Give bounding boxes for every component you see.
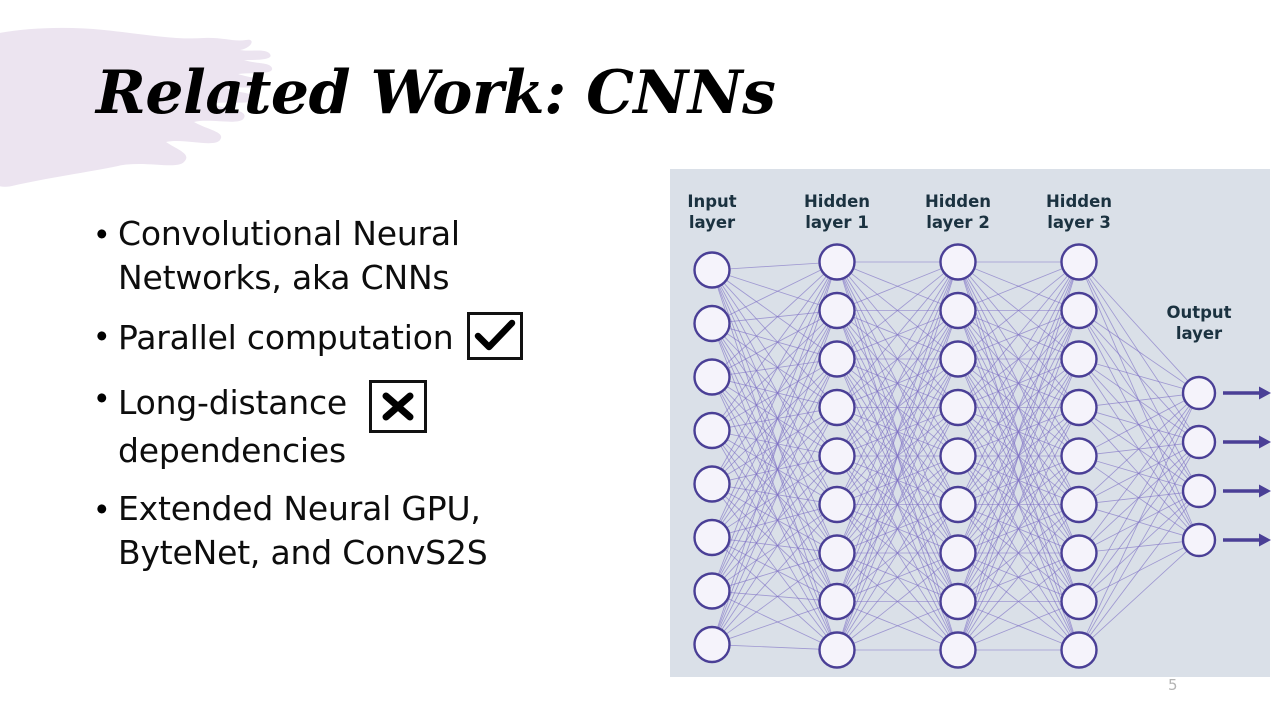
network-node <box>820 245 855 280</box>
network-node <box>941 293 976 328</box>
network-node <box>695 306 730 341</box>
network-node <box>820 293 855 328</box>
network-node <box>941 439 976 474</box>
network-node <box>695 467 730 502</box>
bullet-text-line-two: dependencies <box>118 429 427 473</box>
network-node <box>820 342 855 377</box>
network-node <box>941 487 976 522</box>
bullet-marker-icon: • <box>96 487 118 531</box>
bullet-text-extended-models: Extended Neural GPU, ByteNet, and ConvS2… <box>118 487 538 575</box>
network-node <box>695 627 730 662</box>
bullet-marker-icon: • <box>96 376 118 420</box>
bullet-line-one: Long-distance <box>118 376 427 429</box>
network-node <box>820 633 855 668</box>
network-node <box>695 413 730 448</box>
network-node <box>820 390 855 425</box>
layer-label-hidden-layer-1: Hidden layer 1 <box>777 191 897 233</box>
check-mark-wrapper <box>467 312 523 360</box>
layer-label-hidden-layer-3: Hidden layer 3 <box>1019 191 1139 233</box>
output-arrow-head <box>1259 485 1271 498</box>
network-node <box>941 390 976 425</box>
network-node <box>1062 245 1097 280</box>
network-node <box>1062 390 1097 425</box>
network-node <box>820 536 855 571</box>
slide-root: Related Work: CNNs • Convolutional Neura… <box>0 0 1280 720</box>
network-node <box>941 584 976 619</box>
network-node <box>941 342 976 377</box>
network-node <box>695 253 730 288</box>
layer-label-output-layer: Output layer <box>1139 302 1259 344</box>
bullet-marker-icon: • <box>96 314 118 358</box>
network-node <box>1062 633 1097 668</box>
network-node <box>1183 426 1215 458</box>
bullet-text-line-one: Long-distance <box>118 381 347 425</box>
bullet-text-long-distance-dependencies: Long-distance dependencies <box>118 376 427 473</box>
network-node <box>941 633 976 668</box>
list-item-parallel-computation: • Parallel computation <box>96 314 596 362</box>
check-icon <box>470 315 520 357</box>
network-node <box>820 439 855 474</box>
cross-mark-box <box>369 380 427 433</box>
network-node <box>1062 536 1097 571</box>
bullet-marker-icon: • <box>96 212 118 256</box>
cross-icon <box>372 383 424 430</box>
page-number: 5 <box>1168 676 1178 694</box>
network-node <box>1183 377 1215 409</box>
slide-title: Related Work: CNNs <box>96 62 775 125</box>
network-node <box>1183 475 1215 507</box>
network-node <box>1062 487 1097 522</box>
layer-label-input-layer: Input layer <box>652 191 772 233</box>
neural-network-diagram: Input layerHidden layer 1Hidden layer 2H… <box>670 169 1270 677</box>
list-item-cnn-definition: • Convolutional Neural Networks, aka CNN… <box>96 212 596 300</box>
output-arrow-head <box>1259 387 1271 400</box>
list-item-long-distance-dependencies: • Long-distance dependencies <box>96 376 596 473</box>
bullet-text-cnn-definition: Convolutional Neural Networks, aka CNNs <box>118 212 538 300</box>
list-item-extended-models: • Extended Neural GPU, ByteNet, and Conv… <box>96 487 596 575</box>
output-arrow-head <box>1259 436 1271 449</box>
cross-mark-wrapper <box>369 380 427 433</box>
output-arrows <box>1223 387 1271 547</box>
layer-label-hidden-layer-2: Hidden layer 2 <box>898 191 1018 233</box>
network-node <box>941 536 976 571</box>
neural-network-graphic <box>670 169 1270 677</box>
network-node <box>695 360 730 395</box>
check-mark-box <box>467 312 523 360</box>
network-node <box>1183 524 1215 556</box>
network-node <box>1062 584 1097 619</box>
network-node <box>941 245 976 280</box>
network-node <box>695 520 730 555</box>
bullet-list: • Convolutional Neural Networks, aka CNN… <box>96 212 596 589</box>
bullet-line-parallel-computation: Parallel computation <box>118 314 523 362</box>
network-node <box>1062 342 1097 377</box>
network-node <box>1062 439 1097 474</box>
network-node <box>820 487 855 522</box>
network-node <box>1062 293 1097 328</box>
bullet-text-parallel-computation: Parallel computation <box>118 316 453 360</box>
network-node <box>820 584 855 619</box>
network-node <box>695 574 730 609</box>
output-arrow-head <box>1259 534 1271 547</box>
